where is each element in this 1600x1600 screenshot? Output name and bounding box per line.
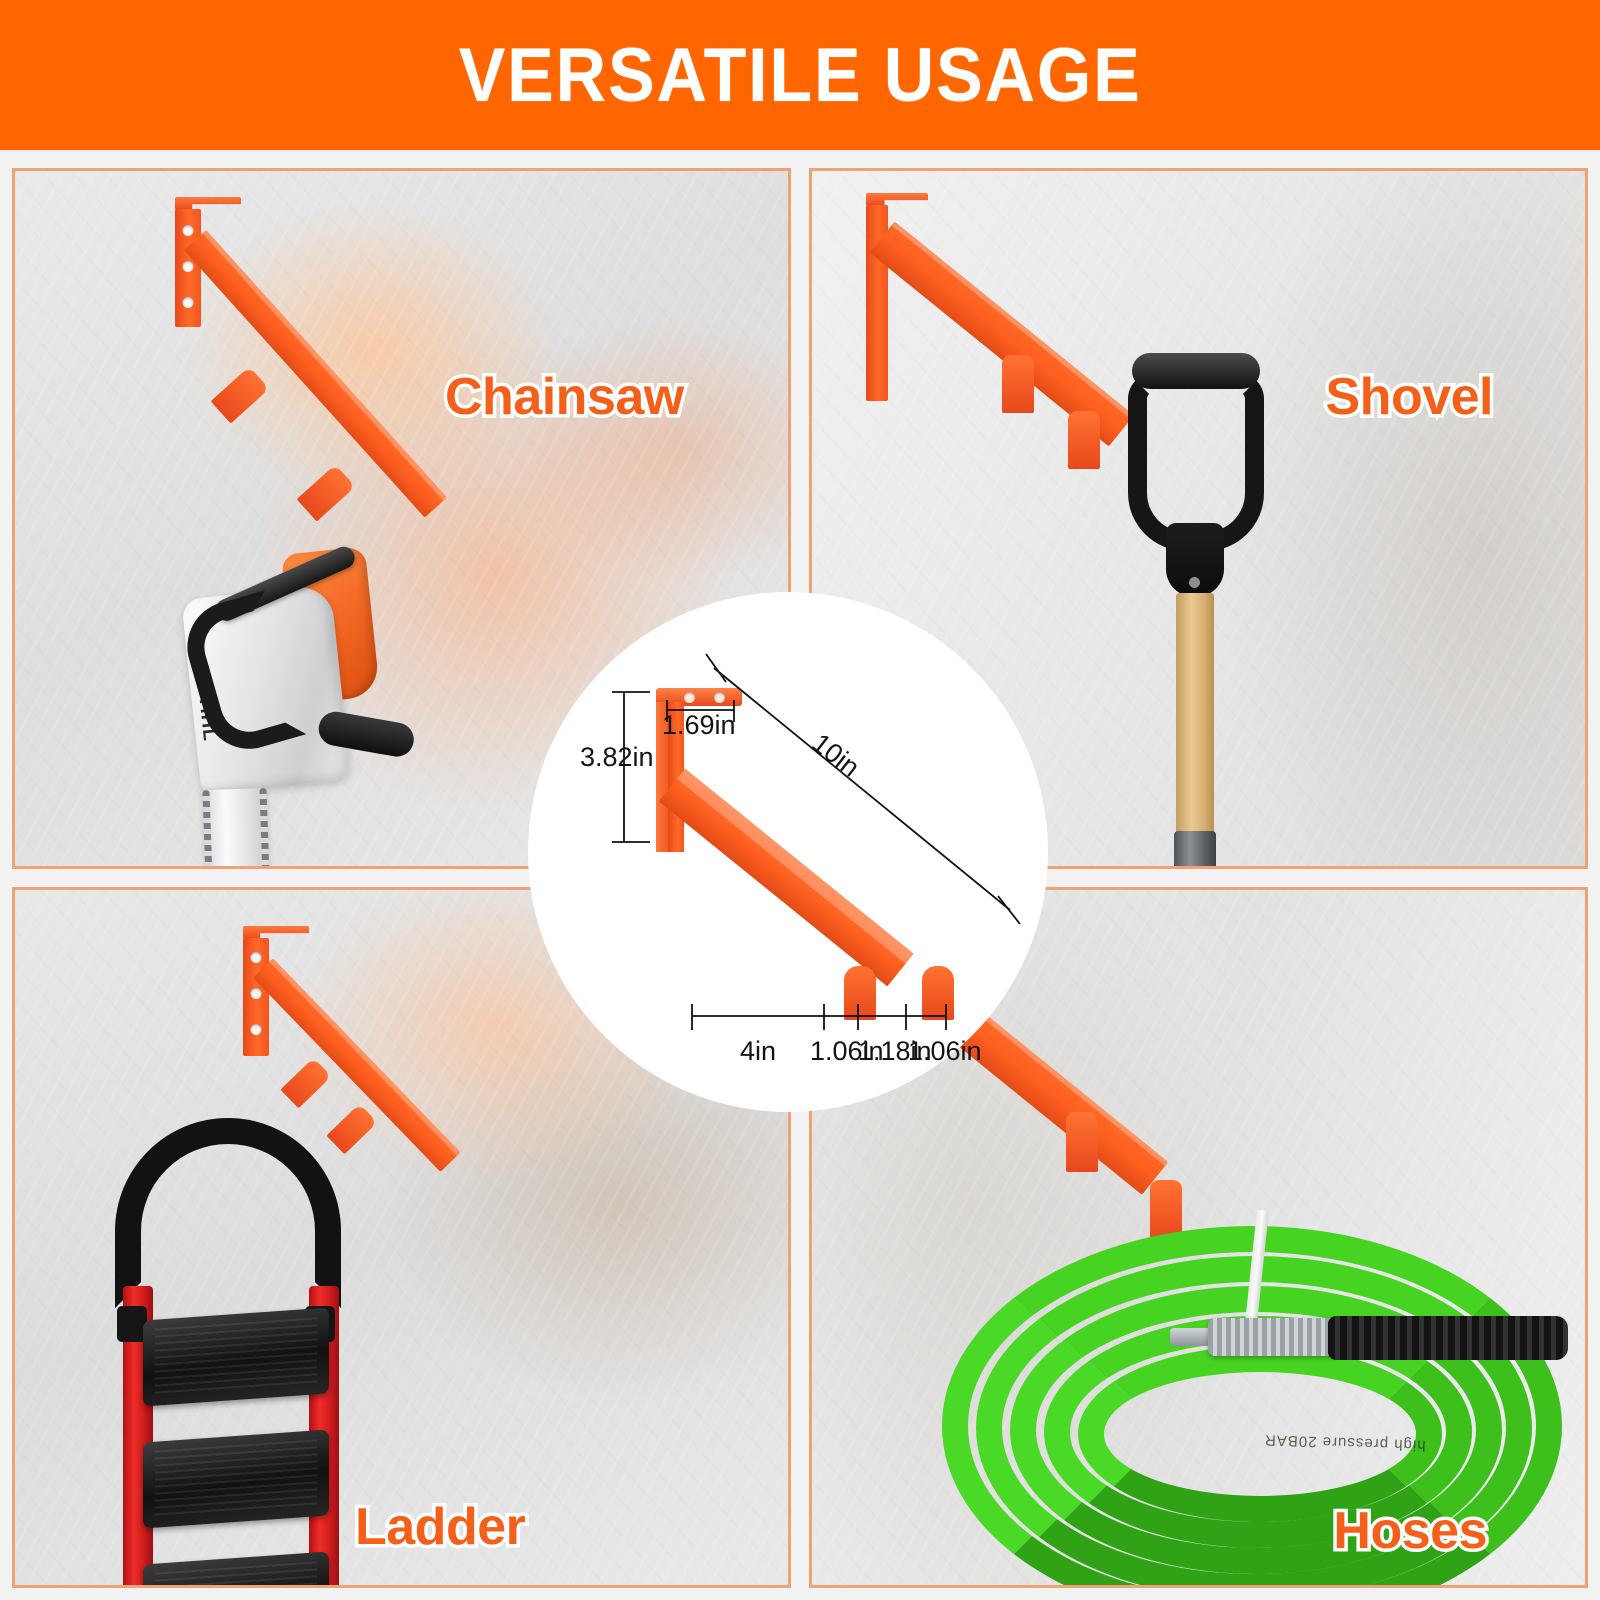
mount-hole-icon [183,225,194,236]
panel-label-hoses: Hoses [1333,1501,1487,1561]
ladder-step [143,1551,329,1588]
bracket-hook-tab [211,366,270,423]
mount-hole-icon [183,297,194,308]
bracket-hook-tab [297,464,356,521]
dimension-plate-width-label: 1.69in [662,710,736,741]
ladder-handle-bar [115,1118,341,1308]
shovel-rivet [1189,577,1200,588]
dimension-lines [528,592,1048,1112]
dimension-height-label: 3.82in [580,742,654,773]
page-title: VERSATILE USAGE [459,32,1142,119]
shovel-steel-ferrule [1174,831,1216,869]
shovel-grip-bar [1132,353,1260,389]
dimension-span-label: 4in [740,1036,776,1067]
bracket-wall-plate [243,938,269,1056]
panel-label-chainsaw: Chainsaw [445,367,684,427]
bracket-arm [184,230,447,518]
dimension-hook-right-label: 1.06in [908,1036,982,1067]
saw-chain-left [202,790,218,869]
panel-label-shovel: Shovel [1326,367,1494,427]
coiled-hose: high pressure 20BAR [932,1220,1588,1588]
guide-bar-brand-text: STIHL [191,867,228,869]
hose-black-strain-relief [1328,1316,1568,1360]
chainsaw-guide-bar: STIHL LIGHT 04 [202,788,275,869]
mount-hole-icon [183,261,194,272]
shovel [1074,353,1314,869]
ladder-step [143,1429,329,1528]
bracket-hook-tab [1066,1112,1098,1172]
panel-label-ladder: Ladder [355,1497,525,1557]
ladder-step [143,1307,329,1406]
shovel-wooden-shaft [1176,593,1214,843]
bracket-wall-plate [175,209,201,327]
mount-hole-icon [251,952,262,963]
bracket-hook-tab [1002,355,1034,413]
mount-hole-icon [251,1024,262,1035]
bracket-hook-tab [280,1058,331,1109]
header-banner: VERSATILE USAGE [0,0,1600,150]
mount-hole-icon [251,988,262,999]
hose-metal-coupler [1208,1318,1340,1356]
hose-loop [1078,1346,1442,1522]
dimension-callout-circle: 3.82in 1.69in 10in 4in 1.06in 1.18in 1.0… [528,592,1048,1112]
